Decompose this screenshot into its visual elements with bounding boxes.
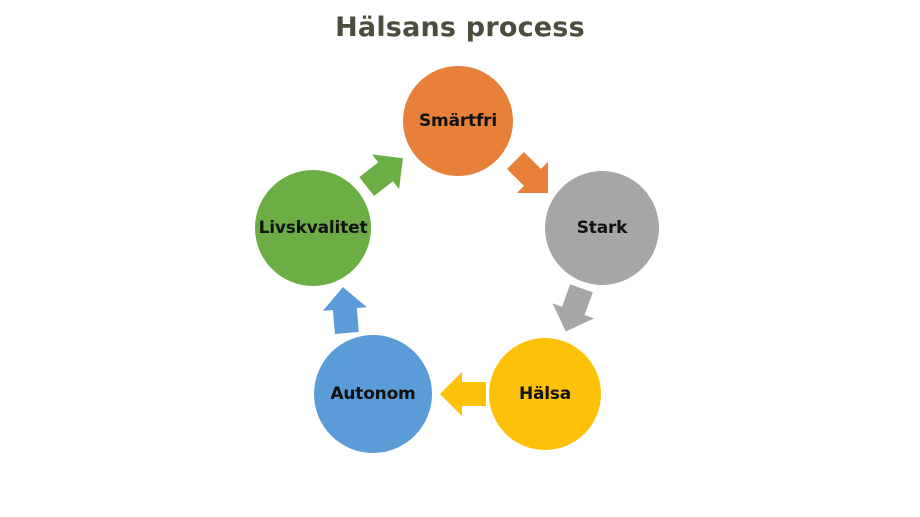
cycle-node-livskvalitet[interactable]: Livskvalitet [255,170,371,286]
cycle-node-smartfri[interactable]: Smärtfri [403,66,513,176]
cycle-node-label-autonom: Autonom [330,386,415,403]
cycle-node-label-livskvalitet: Livskvalitet [259,220,368,237]
diagram-canvas: Hälsans process SmärtfriStarkHälsaAutono… [0,0,920,517]
cycle-node-label-halsa: Hälsa [519,386,571,403]
cycle-node-halsa[interactable]: Hälsa [489,338,601,450]
arrow-autonom-to-livskvalitet-icon [317,283,373,339]
page-title: Hälsans process [0,12,920,44]
arrow-stark-to-halsa-icon [541,276,608,343]
arrow-halsa-to-autonom-icon [438,368,490,420]
cycle-node-stark[interactable]: Stark [545,171,659,285]
cycle-node-autonom[interactable]: Autonom [314,335,432,453]
cycle-node-label-stark: Stark [577,220,628,237]
cycle-node-label-smartfri: Smärtfri [419,113,497,130]
